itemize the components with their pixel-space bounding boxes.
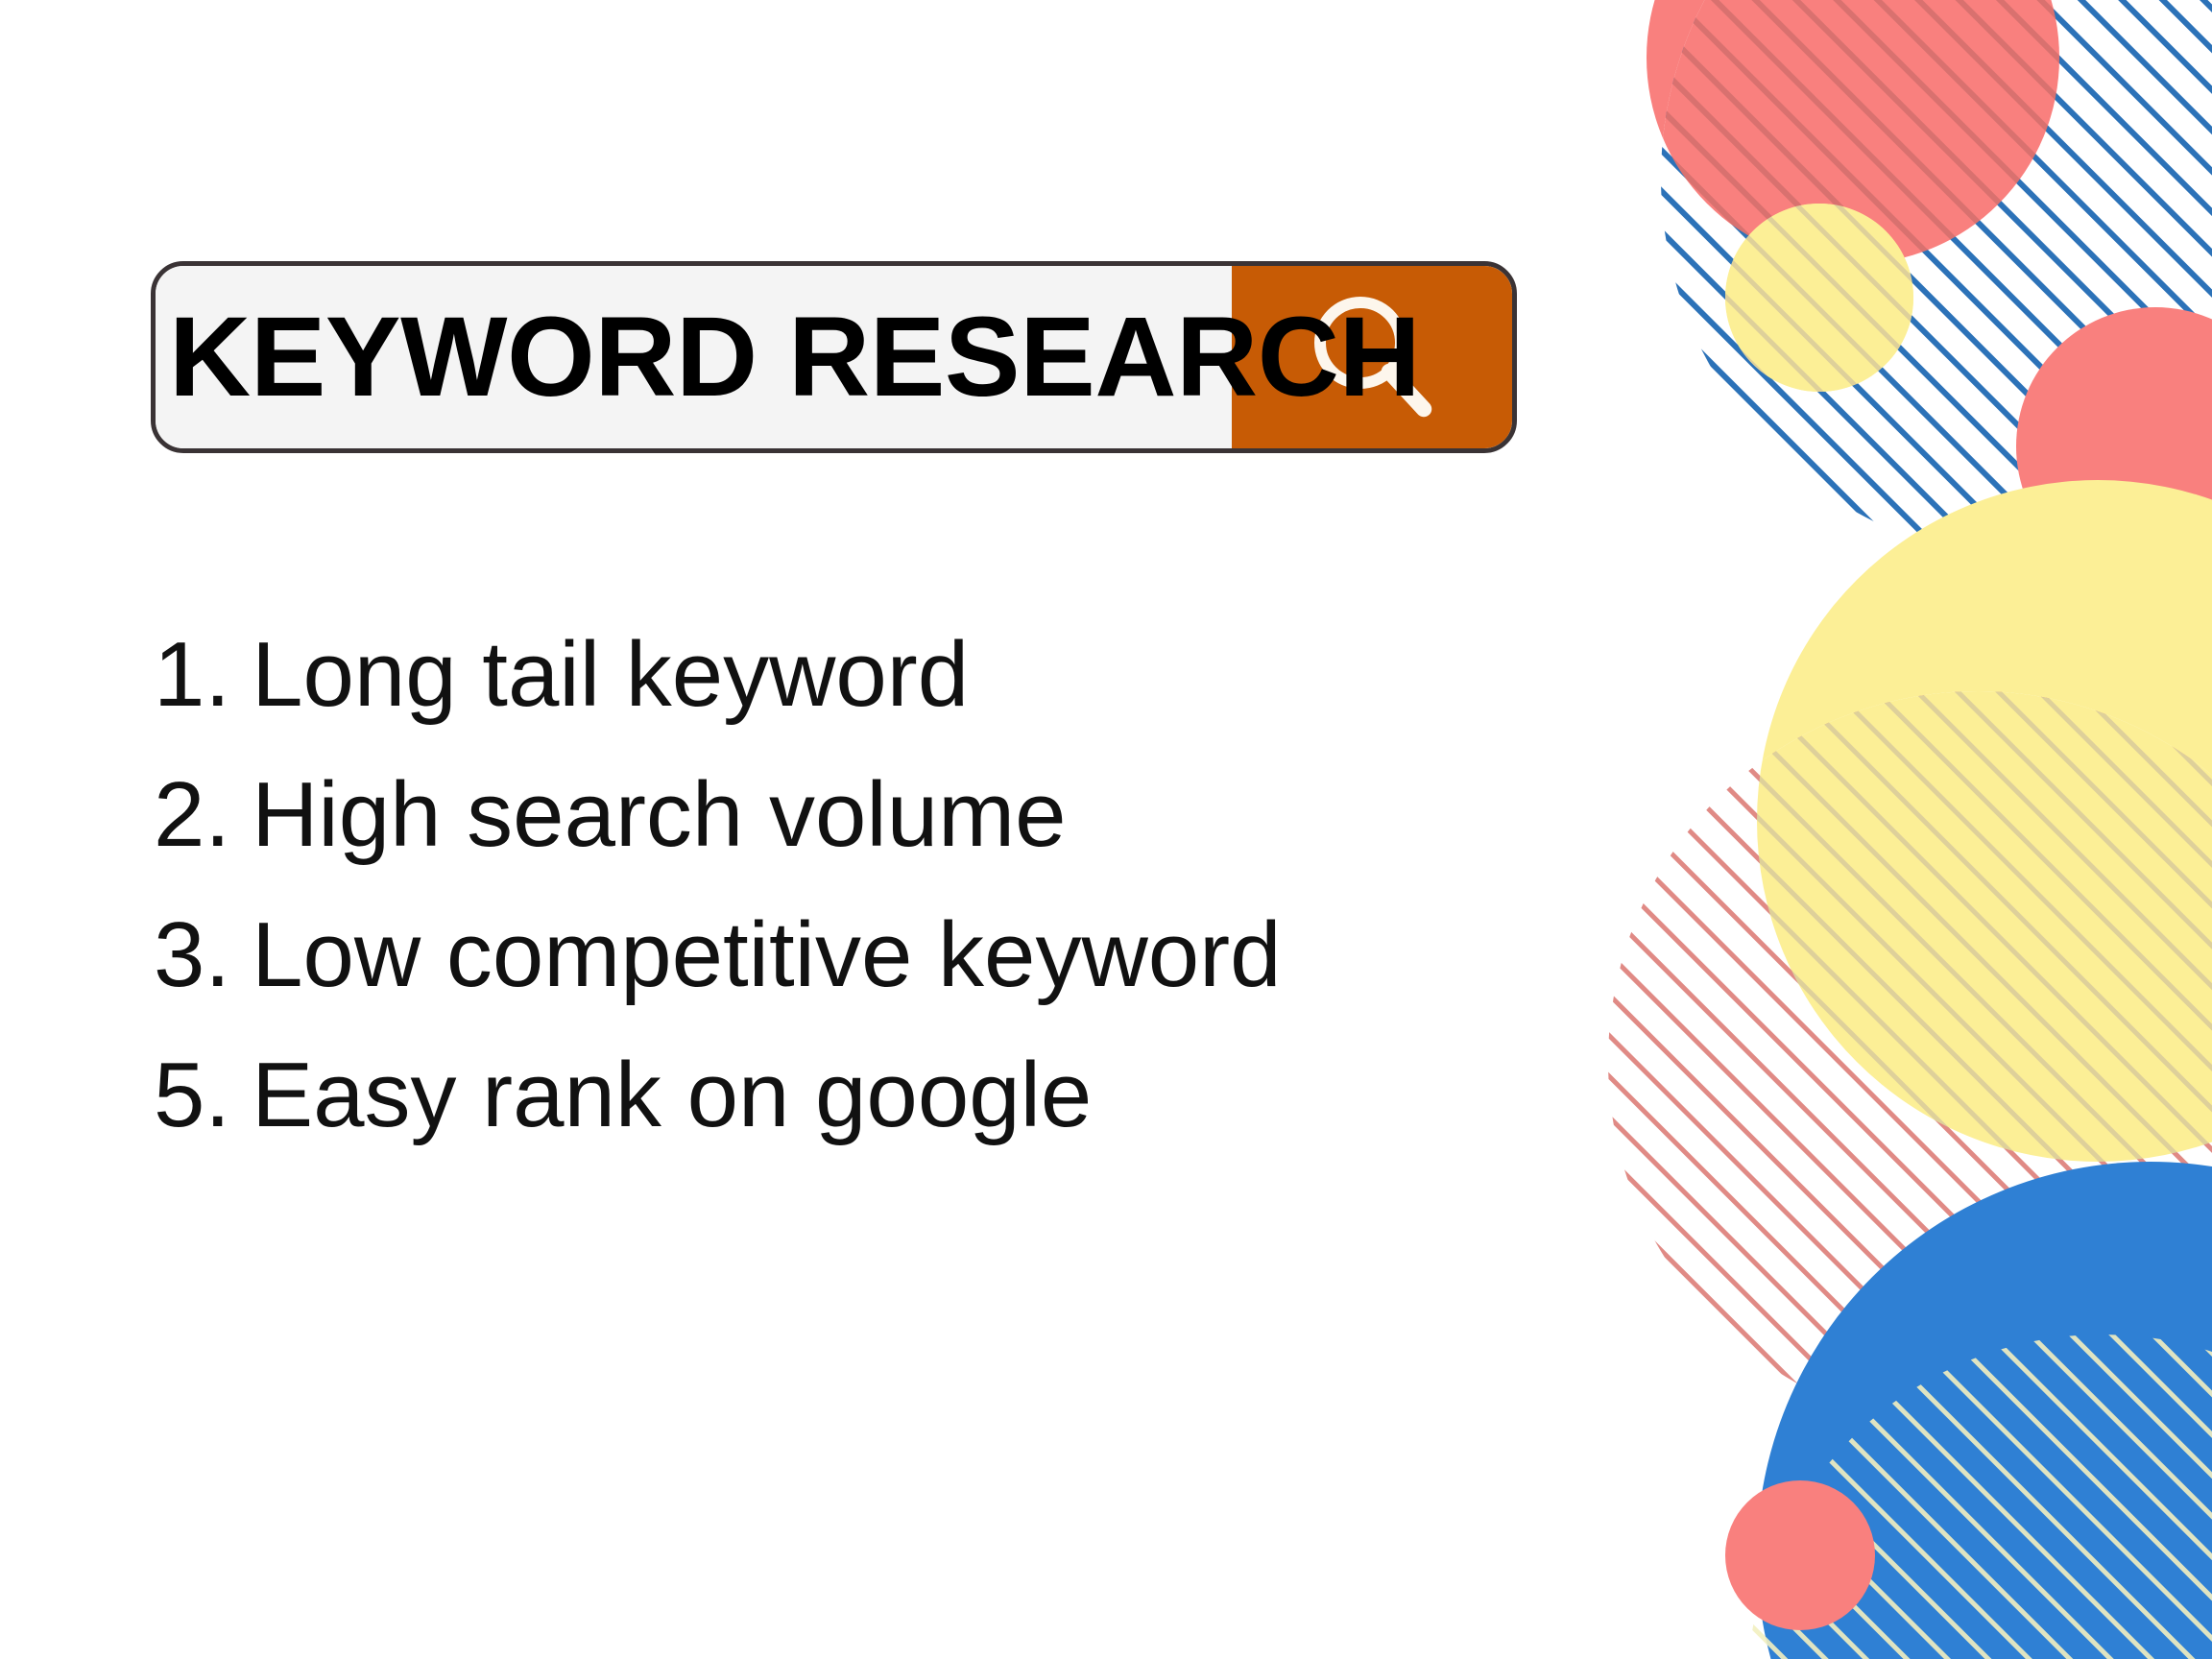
list-item-number: 1. (154, 605, 230, 745)
search-input[interactable]: KEYWORD RESEARCH (156, 266, 1232, 448)
list-item: 2. High search volume (154, 745, 1575, 885)
list-item-number: 3. (154, 885, 230, 1025)
search-query-text: KEYWORD RESEARCH (169, 301, 1420, 414)
list-item-label: Long tail keyword (252, 605, 969, 745)
slide-canvas: KEYWORD RESEARCH 1. Long tail keyword 2.… (0, 0, 2212, 1659)
coral-circle-bottom-small (1725, 1480, 1875, 1630)
blue-striped-circle-top (1661, 0, 2212, 562)
list-item-number: 2. (154, 745, 230, 885)
list-item: 5. Easy rank on google (154, 1025, 1575, 1166)
list-item-label: Low competitive keyword (252, 885, 1281, 1025)
search-bar[interactable]: KEYWORD RESEARCH (151, 261, 1517, 453)
list-item: 1. Long tail keyword (154, 605, 1575, 745)
list-item-label: Easy rank on google (252, 1025, 1092, 1166)
yellow-striped-circle-bottom (1747, 1334, 2212, 1659)
coral-striped-circle-mid (1608, 691, 2212, 1431)
list-item-number: 5. (154, 1025, 230, 1166)
yellow-large-circle (1757, 480, 2212, 1162)
keyword-list: 1. Long tail keyword 2. High search volu… (154, 605, 1575, 1166)
list-item-label: High search volume (252, 745, 1066, 885)
coral-circle-top (1647, 0, 2059, 264)
yellow-small-circle (1725, 204, 1913, 392)
list-item: 3. Low competitive keyword (154, 885, 1575, 1025)
blue-circle-bottom (1757, 1162, 2212, 1659)
coral-circle-right (2016, 307, 2212, 586)
